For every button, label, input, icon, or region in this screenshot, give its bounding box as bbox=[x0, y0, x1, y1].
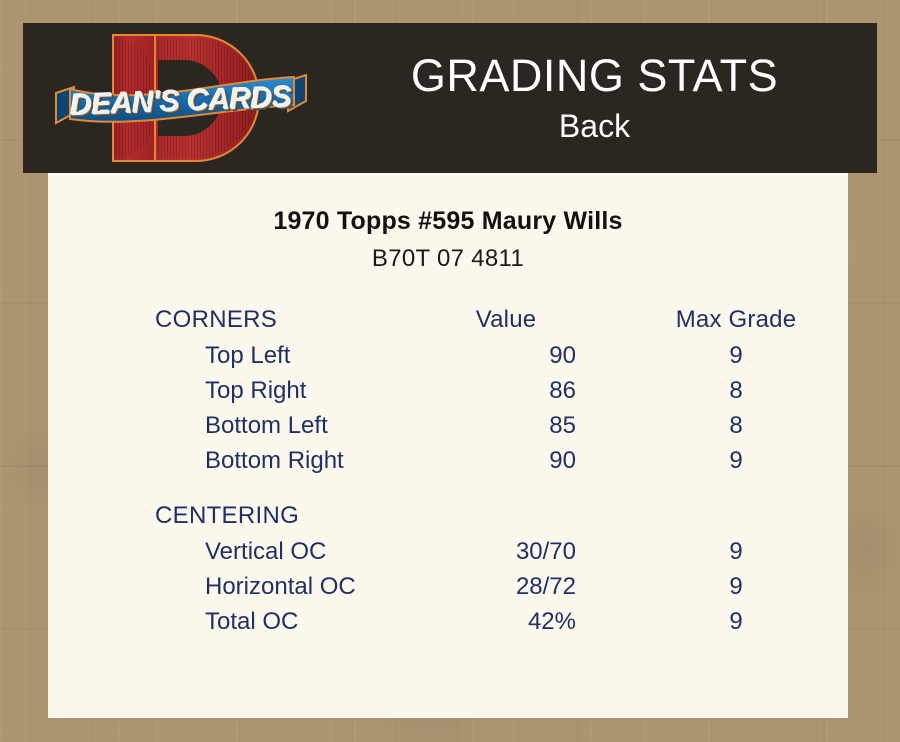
header-bar: DEAN'S CARDS GRADING STATS Back bbox=[23, 23, 877, 173]
row-label: Bottom Left bbox=[48, 412, 408, 447]
table-row: Top Right 86 8 bbox=[48, 377, 848, 412]
row-label: Total OC bbox=[48, 608, 408, 643]
grading-stats-table: CORNERS Value Max Grade Top Left 90 9 To… bbox=[48, 306, 848, 643]
section-centering-grade-spacer bbox=[628, 502, 848, 538]
table-row: Vertical OC 30/70 9 bbox=[48, 538, 848, 573]
row-grade: 9 bbox=[628, 573, 848, 608]
row-label: Top Left bbox=[48, 342, 408, 377]
section-spacer bbox=[48, 482, 848, 502]
section-title-centering: CENTERING bbox=[48, 502, 408, 538]
row-label: Top Right bbox=[48, 377, 408, 412]
section-centering-value-spacer bbox=[408, 502, 628, 538]
row-label: Horizontal OC bbox=[48, 573, 408, 608]
section-header-centering: CENTERING bbox=[48, 502, 848, 538]
logo-wordmark: DEAN'S CARDS bbox=[49, 68, 313, 136]
table-row: Bottom Left 85 8 bbox=[48, 412, 848, 447]
section-title-corners: CORNERS bbox=[48, 306, 408, 342]
row-grade: 9 bbox=[628, 447, 848, 482]
row-value: 42% bbox=[408, 608, 628, 643]
header-title-group: GRADING STATS Back bbox=[312, 23, 877, 173]
row-label: Vertical OC bbox=[48, 538, 408, 573]
row-value: 85 bbox=[408, 412, 628, 447]
table-row: Total OC 42% 9 bbox=[48, 608, 848, 643]
row-value: 30/70 bbox=[408, 538, 628, 573]
page-title: GRADING STATS bbox=[411, 50, 778, 102]
table-row: Horizontal OC 28/72 9 bbox=[48, 573, 848, 608]
table-row: Bottom Right 90 9 bbox=[48, 447, 848, 482]
row-grade: 8 bbox=[628, 412, 848, 447]
table-row: Top Left 90 9 bbox=[48, 342, 848, 377]
content-panel: 1970 Topps #595 Maury Wills B70T 07 4811… bbox=[48, 173, 848, 718]
row-value: 28/72 bbox=[408, 573, 628, 608]
row-grade: 9 bbox=[628, 608, 848, 643]
row-value: 86 bbox=[408, 377, 628, 412]
column-header-max-grade: Max Grade bbox=[628, 306, 848, 342]
section-header-corners: CORNERS Value Max Grade bbox=[48, 306, 848, 342]
card-title: 1970 Topps #595 Maury Wills bbox=[48, 173, 848, 236]
row-value: 90 bbox=[408, 447, 628, 482]
row-value: 90 bbox=[408, 342, 628, 377]
column-header-value: Value bbox=[408, 306, 628, 342]
row-label: Bottom Right bbox=[48, 447, 408, 482]
card-serial-number: B70T 07 4811 bbox=[48, 236, 848, 273]
logo-ribbon-banner: DEAN'S CARDS bbox=[50, 73, 312, 131]
deans-cards-logo: DEAN'S CARDS bbox=[50, 29, 312, 167]
row-grade: 8 bbox=[628, 377, 848, 412]
page-subtitle: Back bbox=[559, 106, 630, 146]
row-grade: 9 bbox=[628, 342, 848, 377]
row-grade: 9 bbox=[628, 538, 848, 573]
